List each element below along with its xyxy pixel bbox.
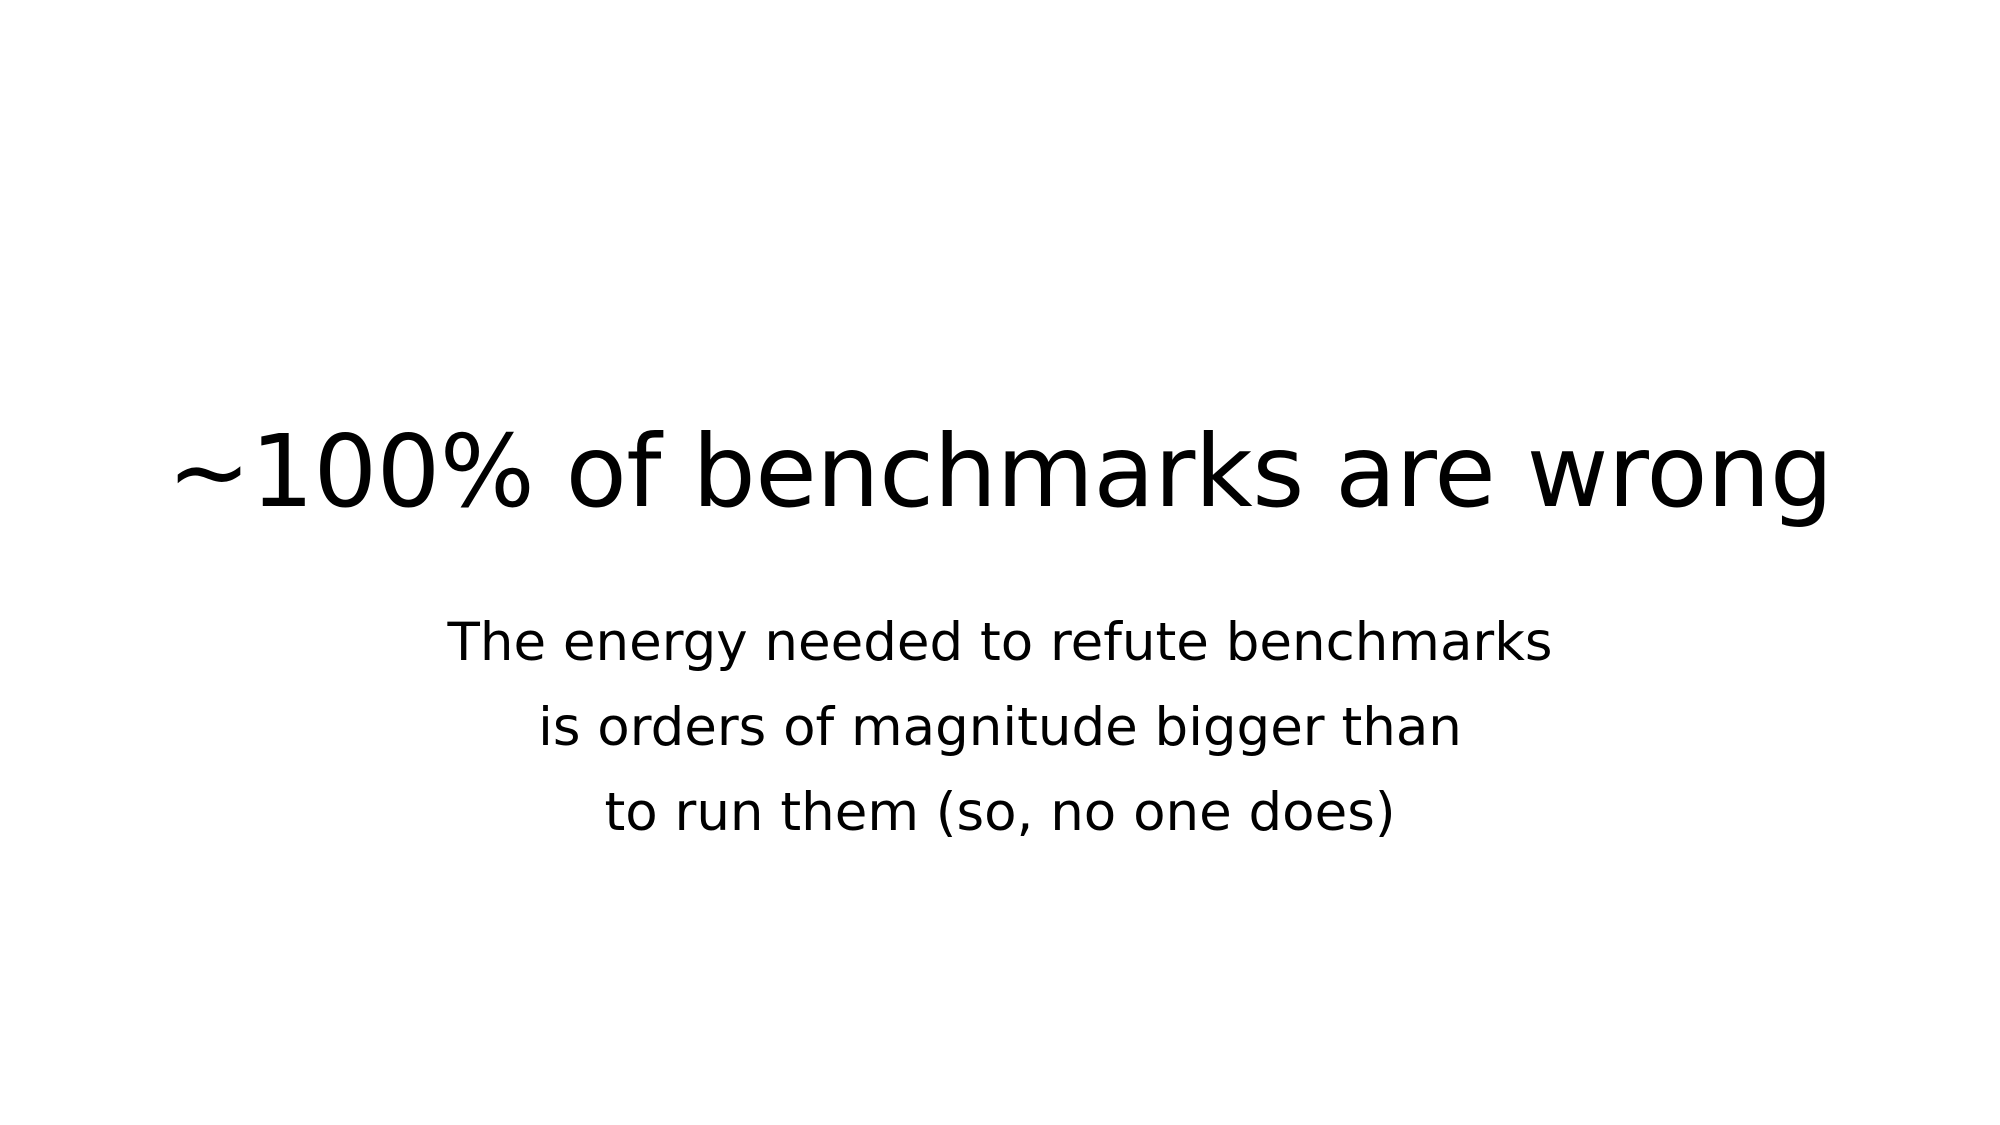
slide-content-area: ~100% of benchmarks are wrong The energy… xyxy=(0,0,2000,1125)
slide-title: ~100% of benchmarks are wrong xyxy=(0,422,2000,522)
slide-body-text: The energy needed to refute benchmarks i… xyxy=(0,600,2000,855)
presentation-slide: ~100% of benchmarks are wrong The energy… xyxy=(0,0,2000,1125)
body-line-1: The energy needed to refute benchmarks xyxy=(0,600,2000,685)
body-line-3: to run them (so, no one does) xyxy=(0,770,2000,855)
body-line-2: is orders of magnitude bigger than xyxy=(0,685,2000,770)
